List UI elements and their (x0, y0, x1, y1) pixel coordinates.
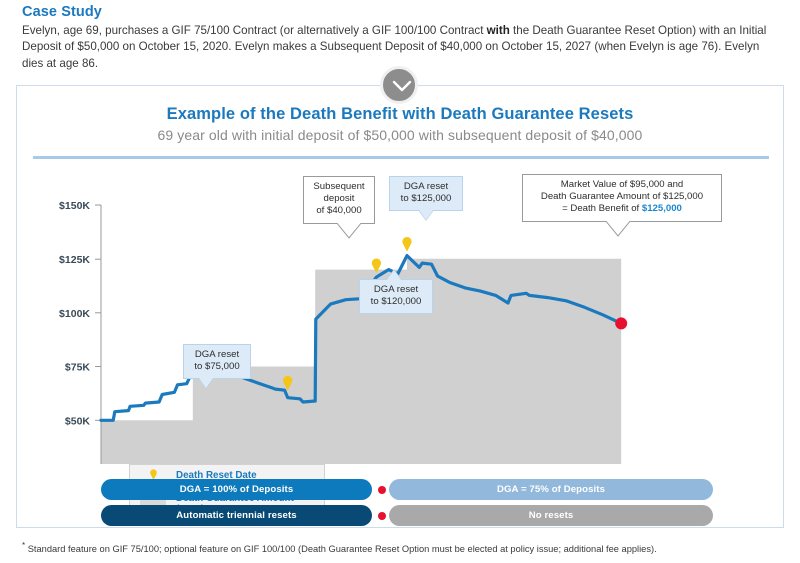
callout-line: deposit (324, 193, 355, 204)
y-tick-label: $75K (65, 362, 91, 374)
callout-line: DGA reset (374, 284, 418, 295)
y-tick-label: $150K (59, 200, 90, 212)
chevron-down-icon[interactable] (380, 66, 418, 104)
chart-subtitle: 69 year old with initial deposit of $50,… (17, 127, 783, 143)
callout-highlight: $125,000 (642, 203, 682, 214)
callout-dga-reset-75000: DGA reset to $75,000 (183, 344, 251, 379)
callout-line: Subsequent (313, 181, 364, 192)
footnote: * Standard feature on GIF 75/100; option… (22, 540, 762, 555)
header-divider (33, 156, 769, 159)
footnote-text: Standard feature on GIF 75/100; optional… (25, 544, 657, 554)
callout-line: Market Value of $95,000 and (561, 179, 684, 190)
death-marker-dot (615, 317, 627, 329)
intro-paragraph: Evelyn, age 69, purchases a GIF 75/100 C… (22, 23, 782, 72)
callout-line: to $75,000 (194, 361, 239, 372)
callout-tail (336, 222, 362, 239)
callout-line: DGA reset (404, 181, 448, 192)
death-marker-dot (378, 512, 386, 520)
intro-text-1: Evelyn, age 69, purchases a GIF 75/100 C… (22, 24, 487, 37)
callout-tail (605, 220, 631, 237)
page-title: Case Study (22, 4, 782, 20)
y-axis-labels: $150K $125K $100K $75K $50K $25K (59, 200, 90, 464)
bar-dga-75[interactable]: DGA = 75% of Deposits (389, 479, 713, 500)
callout-line: = Death Benefit of (562, 203, 642, 214)
chevron-down-glyph (392, 80, 412, 94)
death-reset-marker (402, 237, 411, 252)
bar-automatic-resets[interactable]: Automatic triennial resets (101, 505, 372, 526)
y-tick-label: $100K (59, 308, 90, 320)
bar-no-resets[interactable]: No resets (389, 505, 713, 526)
callout-death-benefit-summary: Market Value of $95,000 and Death Guaran… (522, 174, 722, 222)
callout-line: to $125,000 (401, 193, 452, 204)
callout-line: DGA reset (195, 349, 239, 360)
callout-dga-reset-125000: DGA reset to $125,000 (389, 176, 463, 211)
callout-subsequent-deposit: Subsequent deposit of $40,000 (303, 176, 375, 224)
y-tick-label: $125K (59, 254, 90, 266)
callout-line: Death Guarantee Amount of $125,000 (541, 191, 703, 202)
intro-text-bold: with (487, 24, 510, 37)
callout-dga-reset-120000: DGA reset to $120,000 (359, 279, 433, 314)
callout-line: of $40,000 (316, 205, 361, 216)
y-tick-label: $50K (65, 415, 91, 427)
bar-dga-100[interactable]: DGA = 100% of Deposits (101, 479, 372, 500)
death-marker-dot (378, 486, 386, 494)
chart-card: Example of the Death Benefit with Death … (16, 85, 784, 528)
chart-title: Example of the Death Benefit with Death … (17, 105, 783, 124)
intro-block: Case Study Evelyn, age 69, purchases a G… (22, 4, 782, 72)
callout-line: to $120,000 (371, 296, 422, 307)
pin-glyph (149, 468, 158, 480)
